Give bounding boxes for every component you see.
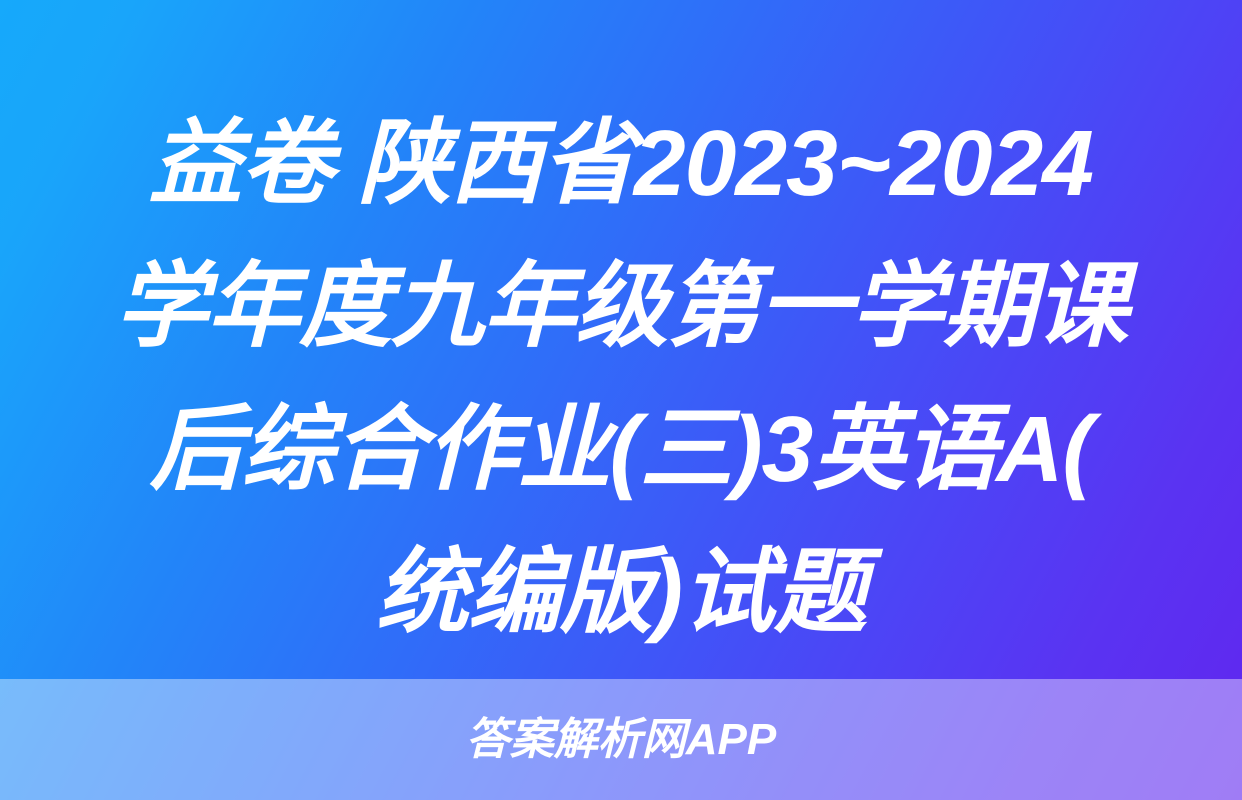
footer-band: 答案解析网APP bbox=[0, 679, 1242, 800]
poster-canvas: 益卷 陕西省2023~2024 学年度九年级第一学期课 后综合作业(三)3英语A… bbox=[0, 0, 1242, 800]
title-line-1: 益卷 陕西省2023~2024 bbox=[62, 92, 1180, 235]
title-line-4: 统编版)试题 bbox=[62, 521, 1180, 664]
page-title: 益卷 陕西省2023~2024 学年度九年级第一学期课 后综合作业(三)3英语A… bbox=[0, 92, 1242, 664]
title-line-3: 后综合作业(三)3英语A( bbox=[62, 378, 1180, 521]
title-line-2: 学年度九年级第一学期课 bbox=[62, 235, 1180, 378]
app-watermark-label: 答案解析网APP bbox=[466, 718, 776, 762]
